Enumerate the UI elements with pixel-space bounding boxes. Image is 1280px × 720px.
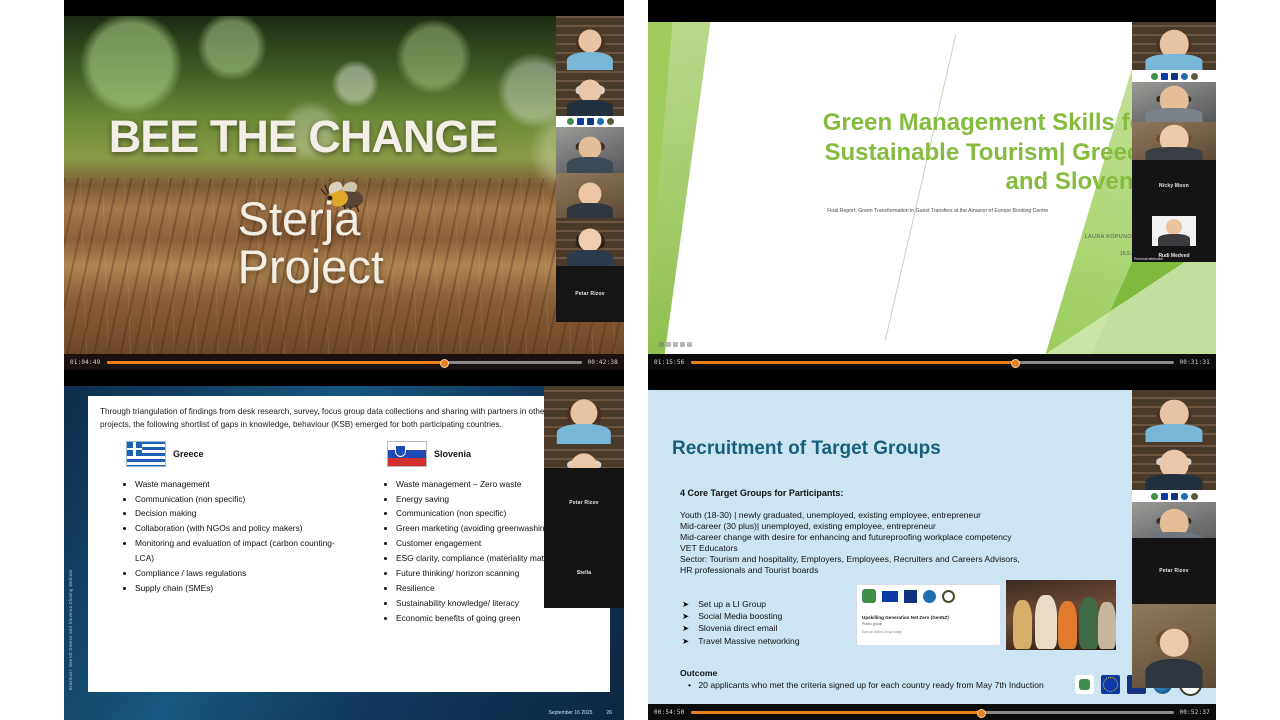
progress-track[interactable] [107, 361, 582, 364]
iky-icon [587, 118, 594, 125]
list-item: Set up a LI Group [698, 598, 766, 610]
body-line: VET Educators [680, 543, 1204, 554]
slide-title-line2: Sustainable Tourism| Greece [682, 138, 1153, 167]
slide-bullet-list: ➤ Set up a LI Group ➤ Social Media boost… [682, 598, 800, 647]
participant-tile[interactable]: Nicky Moon [1132, 160, 1216, 212]
video-controls-2[interactable]: 01:15:56 00:31:31 [648, 354, 1216, 370]
participant-tile[interactable] [556, 70, 624, 116]
video-controls-4[interactable]: 00:54:50 00:52:37 [648, 704, 1216, 720]
eu-flag-logo [1101, 675, 1120, 694]
arrow-bullet-icon: ➤ [682, 610, 689, 622]
body-line: Youth (18-30) | newly graduated, unemplo… [680, 510, 1204, 521]
slide-stage-3: Erasmus+ GenNZ Greece and Slovenia Closi… [64, 386, 624, 720]
screenshot-grid: BEE THE CHANGE Sterja Project [0, 0, 1280, 720]
participant-tile[interactable] [1132, 122, 1216, 160]
eu-flag-icon [1161, 73, 1168, 80]
country-name: Greece [173, 449, 204, 459]
iky-logo [904, 590, 917, 603]
slide-body: Youth (18-30) | newly graduated, unemplo… [680, 510, 1204, 576]
remaining-time: 00:42:38 [588, 359, 619, 366]
body-line: Mid-career change with desire for enhanc… [680, 532, 1204, 543]
participant-name: Petar Rizov [544, 500, 624, 506]
participant-filmstrip [1132, 390, 1216, 550]
participant-tile[interactable]: Petar Rizov [556, 266, 624, 322]
ring-icon [1191, 493, 1198, 500]
video-panel-ksb-gaps[interactable]: Erasmus+ GenNZ Greece and Slovenia Closi… [64, 370, 624, 720]
event-photo [1006, 580, 1116, 650]
participant-tile[interactable]: Petar Rizov [1132, 538, 1216, 604]
slide-title-line1: Green Management Skills for [682, 108, 1153, 137]
list-item: Travel Massive networking [698, 635, 799, 647]
participant-tile[interactable] [556, 16, 624, 70]
participant-tile[interactable] [556, 218, 624, 266]
slide-content-card: Through triangulation of findings from d… [88, 396, 610, 692]
elapsed-time: 00:54:50 [654, 709, 685, 716]
participant-filmstrip-overlay: Petar Rizov Stella [544, 468, 624, 608]
slide-subtitle: Sterja Project [238, 195, 384, 291]
greece-gap-list: Waste management Communication (non spec… [88, 477, 349, 627]
participant-tile[interactable] [1132, 442, 1216, 490]
remaining-time: 00:31:31 [1180, 359, 1211, 366]
list-item: Economic benefits of going green [396, 611, 610, 626]
slide-title: Green Management Skills for Sustainable … [682, 108, 1153, 196]
list-item: Decision making [135, 506, 349, 521]
slide-stage-2: Green Management Skills for Sustainable … [648, 22, 1216, 354]
progress-track[interactable] [691, 711, 1174, 714]
participant-tile[interactable]: Petar Rizov [544, 468, 624, 538]
eu-flag-logo [882, 591, 898, 602]
gennz-icon [567, 118, 574, 125]
footer-slide-number: 26 [606, 710, 612, 716]
screenshare-icon-row [556, 116, 624, 127]
card-title: Upskilling Generation Net Zero (GenNZ) [862, 615, 995, 620]
country-gap-lists: Waste management Communication (non spec… [88, 477, 610, 627]
gennz-logo [1075, 675, 1094, 694]
screenshare-icon-row [1132, 490, 1216, 502]
participant-tile[interactable] [1132, 604, 1216, 688]
video-panel-recruitment[interactable]: Recruitment of Target Groups 4 Core Targ… [648, 370, 1216, 720]
participant-tile[interactable]: Stella [544, 538, 624, 608]
icon-dot-2 [666, 342, 671, 347]
list-item: Supply chain (SMEs) [135, 581, 349, 596]
gennz-icon [1151, 73, 1158, 80]
slide-subtitle-line2: Project [238, 243, 384, 291]
slide-title-line3: and Slovenia [682, 167, 1153, 196]
card-footnote: Earn an Active Group badge [862, 630, 995, 634]
card-logo-row [862, 589, 995, 603]
slide-stage-4: Recruitment of Target Groups 4 Core Targ… [648, 390, 1216, 704]
country-header-greece: Greece [88, 441, 349, 467]
iky-icon [1171, 73, 1178, 80]
slide-subtitle-line1: Sterja [238, 195, 384, 243]
slide-corner-icons [659, 342, 692, 347]
slovenia-flag-icon [387, 441, 427, 467]
ring-icon [1191, 73, 1198, 80]
participant-name: Rudi Medved [1132, 253, 1216, 259]
participant-name: Nicky Moon [1132, 183, 1216, 189]
participant-filmstrip: Nicky Moon Personal attribution Rudi Med… [1132, 22, 1216, 262]
greece-flag-icon [126, 441, 166, 467]
eu-flag-icon [577, 118, 584, 125]
list-item: Waste management [135, 477, 349, 492]
globe-icon [597, 118, 604, 125]
participant-filmstrip-2: Petar Rizov [1132, 538, 1216, 688]
participant-name: Petar Rizov [1132, 568, 1216, 574]
bullet-icon: • [688, 680, 691, 690]
ring-icon [607, 118, 614, 125]
arrow-bullet-icon: ➤ [682, 635, 689, 647]
ring-logo [942, 590, 955, 603]
participant-tile[interactable] [1132, 82, 1216, 122]
gennz-icon [1151, 493, 1158, 500]
globe-logo [923, 590, 936, 603]
video-controls-1[interactable]: 01:04:49 00:42:38 [64, 354, 624, 370]
footer-date: September 16 2025 [549, 710, 593, 716]
list-item: Collaboration (with NGOs and policy make… [135, 521, 349, 536]
body-line: Sector: Tourism and hospitality, Employe… [680, 554, 1204, 565]
video-panel-green-management[interactable]: Green Management Skills for Sustainable … [648, 0, 1216, 370]
participant-tile[interactable] [556, 127, 624, 173]
iky-icon [1171, 493, 1178, 500]
slide-stage-1: BEE THE CHANGE Sterja Project [64, 16, 624, 354]
gennz-logo [862, 589, 876, 603]
slide-heading: 4 Core Target Groups for Participants: [680, 488, 843, 498]
participant-name: Petar Rizov [556, 291, 624, 297]
globe-icon [1181, 73, 1188, 80]
icon-dot-4 [680, 342, 685, 347]
elapsed-time: 01:04:49 [70, 359, 101, 366]
icon-dot-5 [687, 342, 692, 347]
slide-title: BEE THE CHANGE [109, 111, 624, 163]
list-item: Communication (non specific) [135, 492, 349, 507]
participant-tile[interactable]: Personal attribution Rudi Medved [1132, 212, 1216, 262]
slide-intro-text: Through triangulation of findings from d… [100, 405, 598, 432]
list-item: Social Media boosting [698, 610, 782, 622]
participant-tile[interactable] [556, 173, 624, 218]
eu-flag-icon [1161, 493, 1168, 500]
outcome-label: Outcome [680, 668, 717, 678]
list-item: Slovenia direct email [698, 622, 777, 634]
list-item: Monitoring and evaluation of impact (car… [135, 536, 349, 566]
screenshare-icon-row [1132, 70, 1216, 82]
facebook-group-card[interactable]: Upskilling Generation Net Zero (GenNZ) P… [856, 584, 1001, 646]
progress-track[interactable] [691, 361, 1174, 364]
list-item: Compliance / laws regulations [135, 566, 349, 581]
participant-tile[interactable] [1132, 22, 1216, 70]
icon-dot-1 [659, 342, 664, 347]
body-line: HR professionals and Tourist boards [680, 565, 1204, 576]
participant-filmstrip [556, 16, 624, 266]
slide-subtitle: Final Report: Green Transformation in Gu… [728, 208, 1148, 214]
outcome-value: 20 applicants who met the criteria signe… [698, 680, 1043, 690]
video-panel-bee-the-change[interactable]: BEE THE CHANGE Sterja Project [64, 0, 624, 370]
participant-tile[interactable] [544, 386, 624, 444]
arrow-bullet-icon: ➤ [682, 598, 689, 610]
slide-title: Recruitment of Target Groups [672, 438, 941, 460]
participant-name: Stella [544, 570, 624, 576]
elapsed-time: 01:15:56 [654, 359, 685, 366]
country-header-row: Greece Slovenia [88, 441, 610, 467]
country-name: Slovenia [434, 449, 471, 459]
arrow-bullet-icon: ➤ [682, 622, 689, 634]
participant-filmstrip-overflow: Petar Rizov [556, 266, 624, 322]
slide-side-label: Erasmus+ GenNZ Greece and Slovenia Closi… [68, 394, 80, 694]
body-line: Mid-career (30 plus)| unemployed, existi… [680, 521, 1204, 532]
icon-dot-3 [673, 342, 678, 347]
remaining-time: 00:52:37 [1180, 709, 1211, 716]
globe-icon [1181, 493, 1188, 500]
slide-footer: September 16 2025 26 [549, 710, 612, 716]
card-subtitle: Public group [862, 622, 995, 626]
participant-tile[interactable] [1132, 390, 1216, 442]
